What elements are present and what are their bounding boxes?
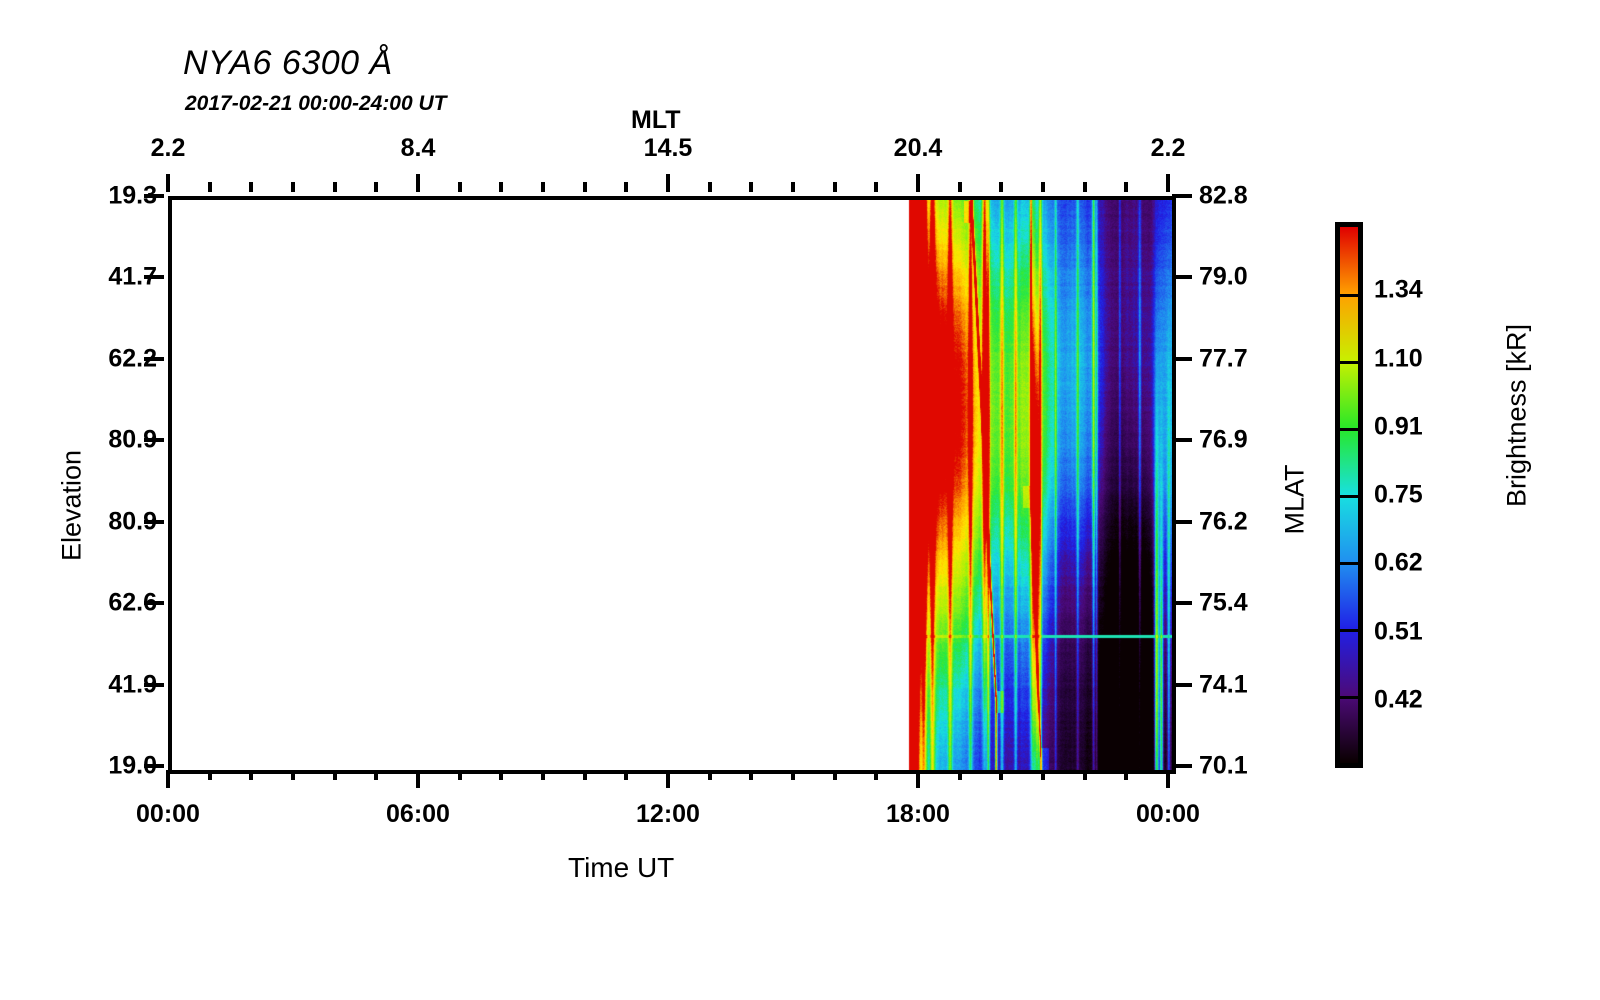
tick-mark bbox=[541, 182, 545, 192]
tick-mark bbox=[583, 770, 587, 780]
tick-mark bbox=[291, 182, 295, 192]
tick-mark bbox=[1041, 770, 1045, 780]
colorbar-divider bbox=[1340, 428, 1358, 431]
tick-mark bbox=[166, 174, 170, 192]
elevation-tick-label: 41.7 bbox=[108, 263, 157, 292]
tick-mark bbox=[999, 182, 1003, 192]
tick-mark bbox=[999, 770, 1003, 780]
mlat-tick-label: 76.9 bbox=[1199, 426, 1248, 455]
tick-mark bbox=[791, 182, 795, 192]
tick-mark bbox=[1083, 770, 1087, 780]
tick-mark bbox=[708, 770, 712, 780]
tick-mark bbox=[416, 770, 420, 788]
tick-mark bbox=[208, 770, 212, 780]
mlt-axis-caption: MLT bbox=[631, 106, 681, 135]
tick-mark bbox=[791, 770, 795, 780]
elevation-tick-label: 19.3 bbox=[108, 182, 157, 211]
tick-mark bbox=[333, 182, 337, 192]
mlat-tick-label: 76.2 bbox=[1199, 507, 1248, 536]
tick-mark bbox=[166, 770, 170, 788]
mlat-tick-label: 79.0 bbox=[1199, 263, 1248, 292]
keogram-heatmap-image bbox=[172, 200, 1172, 770]
colorbar-tick-label: 0.62 bbox=[1374, 549, 1423, 578]
colorbar-tick-label: 1.34 bbox=[1374, 276, 1423, 305]
tick-mark bbox=[1172, 357, 1192, 361]
tick-mark bbox=[1166, 174, 1170, 192]
tick-mark bbox=[1172, 520, 1192, 524]
colorbar-tick-label: 0.91 bbox=[1374, 412, 1423, 441]
elevation-axis-title: Elevation bbox=[57, 406, 88, 606]
tick-mark bbox=[1172, 683, 1192, 687]
colorbar-divider bbox=[1340, 361, 1358, 364]
tick-mark bbox=[208, 182, 212, 192]
mlat-tick-label: 75.4 bbox=[1199, 589, 1248, 618]
colorbar-tick-label: 0.42 bbox=[1374, 685, 1423, 714]
mlt-tick-label: 2.2 bbox=[151, 134, 186, 163]
mlat-tick-label: 77.7 bbox=[1199, 344, 1248, 373]
elevation-tick-label: 62.6 bbox=[108, 589, 157, 618]
tick-mark bbox=[1124, 770, 1128, 780]
mlat-tick-label: 82.8 bbox=[1199, 182, 1248, 211]
tick-mark bbox=[874, 182, 878, 192]
mlt-tick-label: 8.4 bbox=[401, 134, 436, 163]
mlat-tick-label: 70.1 bbox=[1199, 752, 1248, 781]
time-tick-label: 00:00 bbox=[1136, 800, 1200, 829]
tick-mark bbox=[499, 182, 503, 192]
tick-mark bbox=[874, 770, 878, 780]
brightness-colorbar bbox=[1335, 222, 1363, 768]
colorbar-divider bbox=[1340, 495, 1358, 498]
tick-mark bbox=[1166, 770, 1170, 788]
tick-mark bbox=[833, 182, 837, 192]
mlt-tick-label: 2.2 bbox=[1151, 134, 1186, 163]
mlat-tick-label: 74.1 bbox=[1199, 670, 1248, 699]
tick-mark bbox=[458, 770, 462, 780]
tick-mark bbox=[624, 770, 628, 780]
tick-mark bbox=[1172, 438, 1192, 442]
tick-mark bbox=[249, 770, 253, 780]
elevation-tick-label: 62.2 bbox=[108, 344, 157, 373]
mlt-tick-label: 20.4 bbox=[894, 134, 943, 163]
tick-mark bbox=[666, 770, 670, 788]
elevation-tick-label: 80.9 bbox=[108, 426, 157, 455]
tick-mark bbox=[749, 182, 753, 192]
time-tick-label: 18:00 bbox=[886, 800, 950, 829]
elevation-tick-label: 80.9 bbox=[108, 507, 157, 536]
keogram-plot-area bbox=[168, 196, 1176, 774]
tick-mark bbox=[1124, 182, 1128, 192]
time-axis-title: Time UT bbox=[568, 852, 674, 884]
time-tick-label: 12:00 bbox=[636, 800, 700, 829]
tick-mark bbox=[833, 770, 837, 780]
tick-mark bbox=[666, 174, 670, 192]
plot-title: NYA6 6300 Å bbox=[183, 44, 393, 83]
tick-mark bbox=[416, 174, 420, 192]
tick-mark bbox=[374, 770, 378, 780]
mlat-axis-title: MLAT bbox=[1280, 400, 1311, 600]
elevation-tick-label: 19.0 bbox=[108, 752, 157, 781]
tick-mark bbox=[249, 182, 253, 192]
tick-mark bbox=[916, 174, 920, 192]
colorbar-tick-label: 1.10 bbox=[1374, 344, 1423, 373]
tick-mark bbox=[458, 182, 462, 192]
elevation-tick-label: 41.9 bbox=[108, 670, 157, 699]
colorbar-divider bbox=[1340, 696, 1358, 699]
colorbar-divider bbox=[1340, 294, 1358, 297]
tick-mark bbox=[374, 182, 378, 192]
tick-mark bbox=[1172, 194, 1192, 198]
tick-mark bbox=[1041, 182, 1045, 192]
tick-mark bbox=[708, 182, 712, 192]
colorbar-divider bbox=[1340, 629, 1358, 632]
time-tick-label: 06:00 bbox=[386, 800, 450, 829]
colorbar-tick-label: 0.51 bbox=[1374, 617, 1423, 646]
tick-mark bbox=[291, 770, 295, 780]
tick-mark bbox=[1083, 182, 1087, 192]
plot-subtitle: 2017-02-21 00:00-24:00 UT bbox=[185, 92, 447, 116]
tick-mark bbox=[958, 182, 962, 192]
tick-mark bbox=[958, 770, 962, 780]
tick-mark bbox=[1172, 275, 1192, 279]
tick-mark bbox=[916, 770, 920, 788]
tick-mark bbox=[1172, 601, 1192, 605]
tick-mark bbox=[749, 770, 753, 780]
tick-mark bbox=[1172, 764, 1192, 768]
colorbar-axis-title: Brightness [kR] bbox=[1502, 266, 1533, 566]
tick-mark bbox=[333, 770, 337, 780]
colorbar-tick-label: 0.75 bbox=[1374, 481, 1423, 510]
colorbar-divider bbox=[1340, 562, 1358, 565]
tick-mark bbox=[624, 182, 628, 192]
keogram-image-container bbox=[172, 200, 1172, 770]
tick-mark bbox=[541, 770, 545, 780]
time-tick-label: 00:00 bbox=[136, 800, 200, 829]
mlt-tick-label: 14.5 bbox=[644, 134, 693, 163]
tick-mark bbox=[499, 770, 503, 780]
tick-mark bbox=[583, 182, 587, 192]
